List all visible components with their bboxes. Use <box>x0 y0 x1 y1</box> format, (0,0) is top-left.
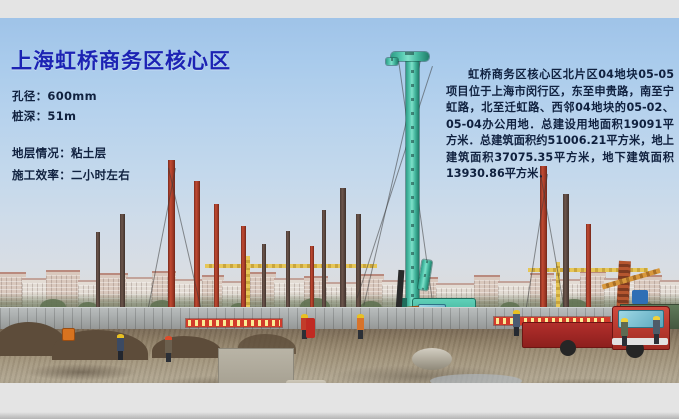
spec-efficiency-value: 二小时左右 <box>71 168 130 182</box>
project-description: 虹桥商务区核心区北片区04地块05-05项目位于上海市闵行区，东至申贵路，南至宁… <box>446 67 674 183</box>
orange-bucket <box>62 328 75 341</box>
spec-hole-diameter-label: 孔径： <box>12 89 47 103</box>
spec-pile-depth-value: 51m <box>47 109 76 123</box>
pile-casing <box>412 348 452 370</box>
spec-stratum-value: 粘土层 <box>71 146 106 160</box>
concrete-slab <box>218 348 294 383</box>
page-title: 上海虹桥商务区核心区 <box>11 45 231 75</box>
spec-efficiency-label: 施工效率： <box>12 168 71 182</box>
spec-stratum: 地层情况：粘土层 <box>12 145 106 161</box>
frame-top-border <box>0 0 679 18</box>
spec-pile-depth: 桩深：51m <box>12 108 76 124</box>
red-drum <box>306 318 315 338</box>
spec-hole-diameter-value: 600mm <box>47 89 96 103</box>
blue-water-tank <box>632 290 648 304</box>
construction-site-photo: 上海虹桥商务区核心区 孔径：600mm 桩深：51m 地层情况：粘土层 施工效率… <box>0 18 679 383</box>
slide-screen: 上海虹桥商务区核心区 孔径：600mm 桩深：51m 地层情况：粘土层 施工效率… <box>0 0 679 419</box>
frame-bottom-shadow <box>0 412 679 419</box>
spec-efficiency: 施工效率：二小时左右 <box>12 167 130 183</box>
spec-hole-diameter: 孔径：600mm <box>12 88 97 104</box>
spec-pile-depth-label: 桩深： <box>12 109 47 123</box>
spec-stratum-label: 地层情况： <box>12 146 71 160</box>
banner-left <box>186 319 282 327</box>
puddle-1 <box>430 374 522 383</box>
